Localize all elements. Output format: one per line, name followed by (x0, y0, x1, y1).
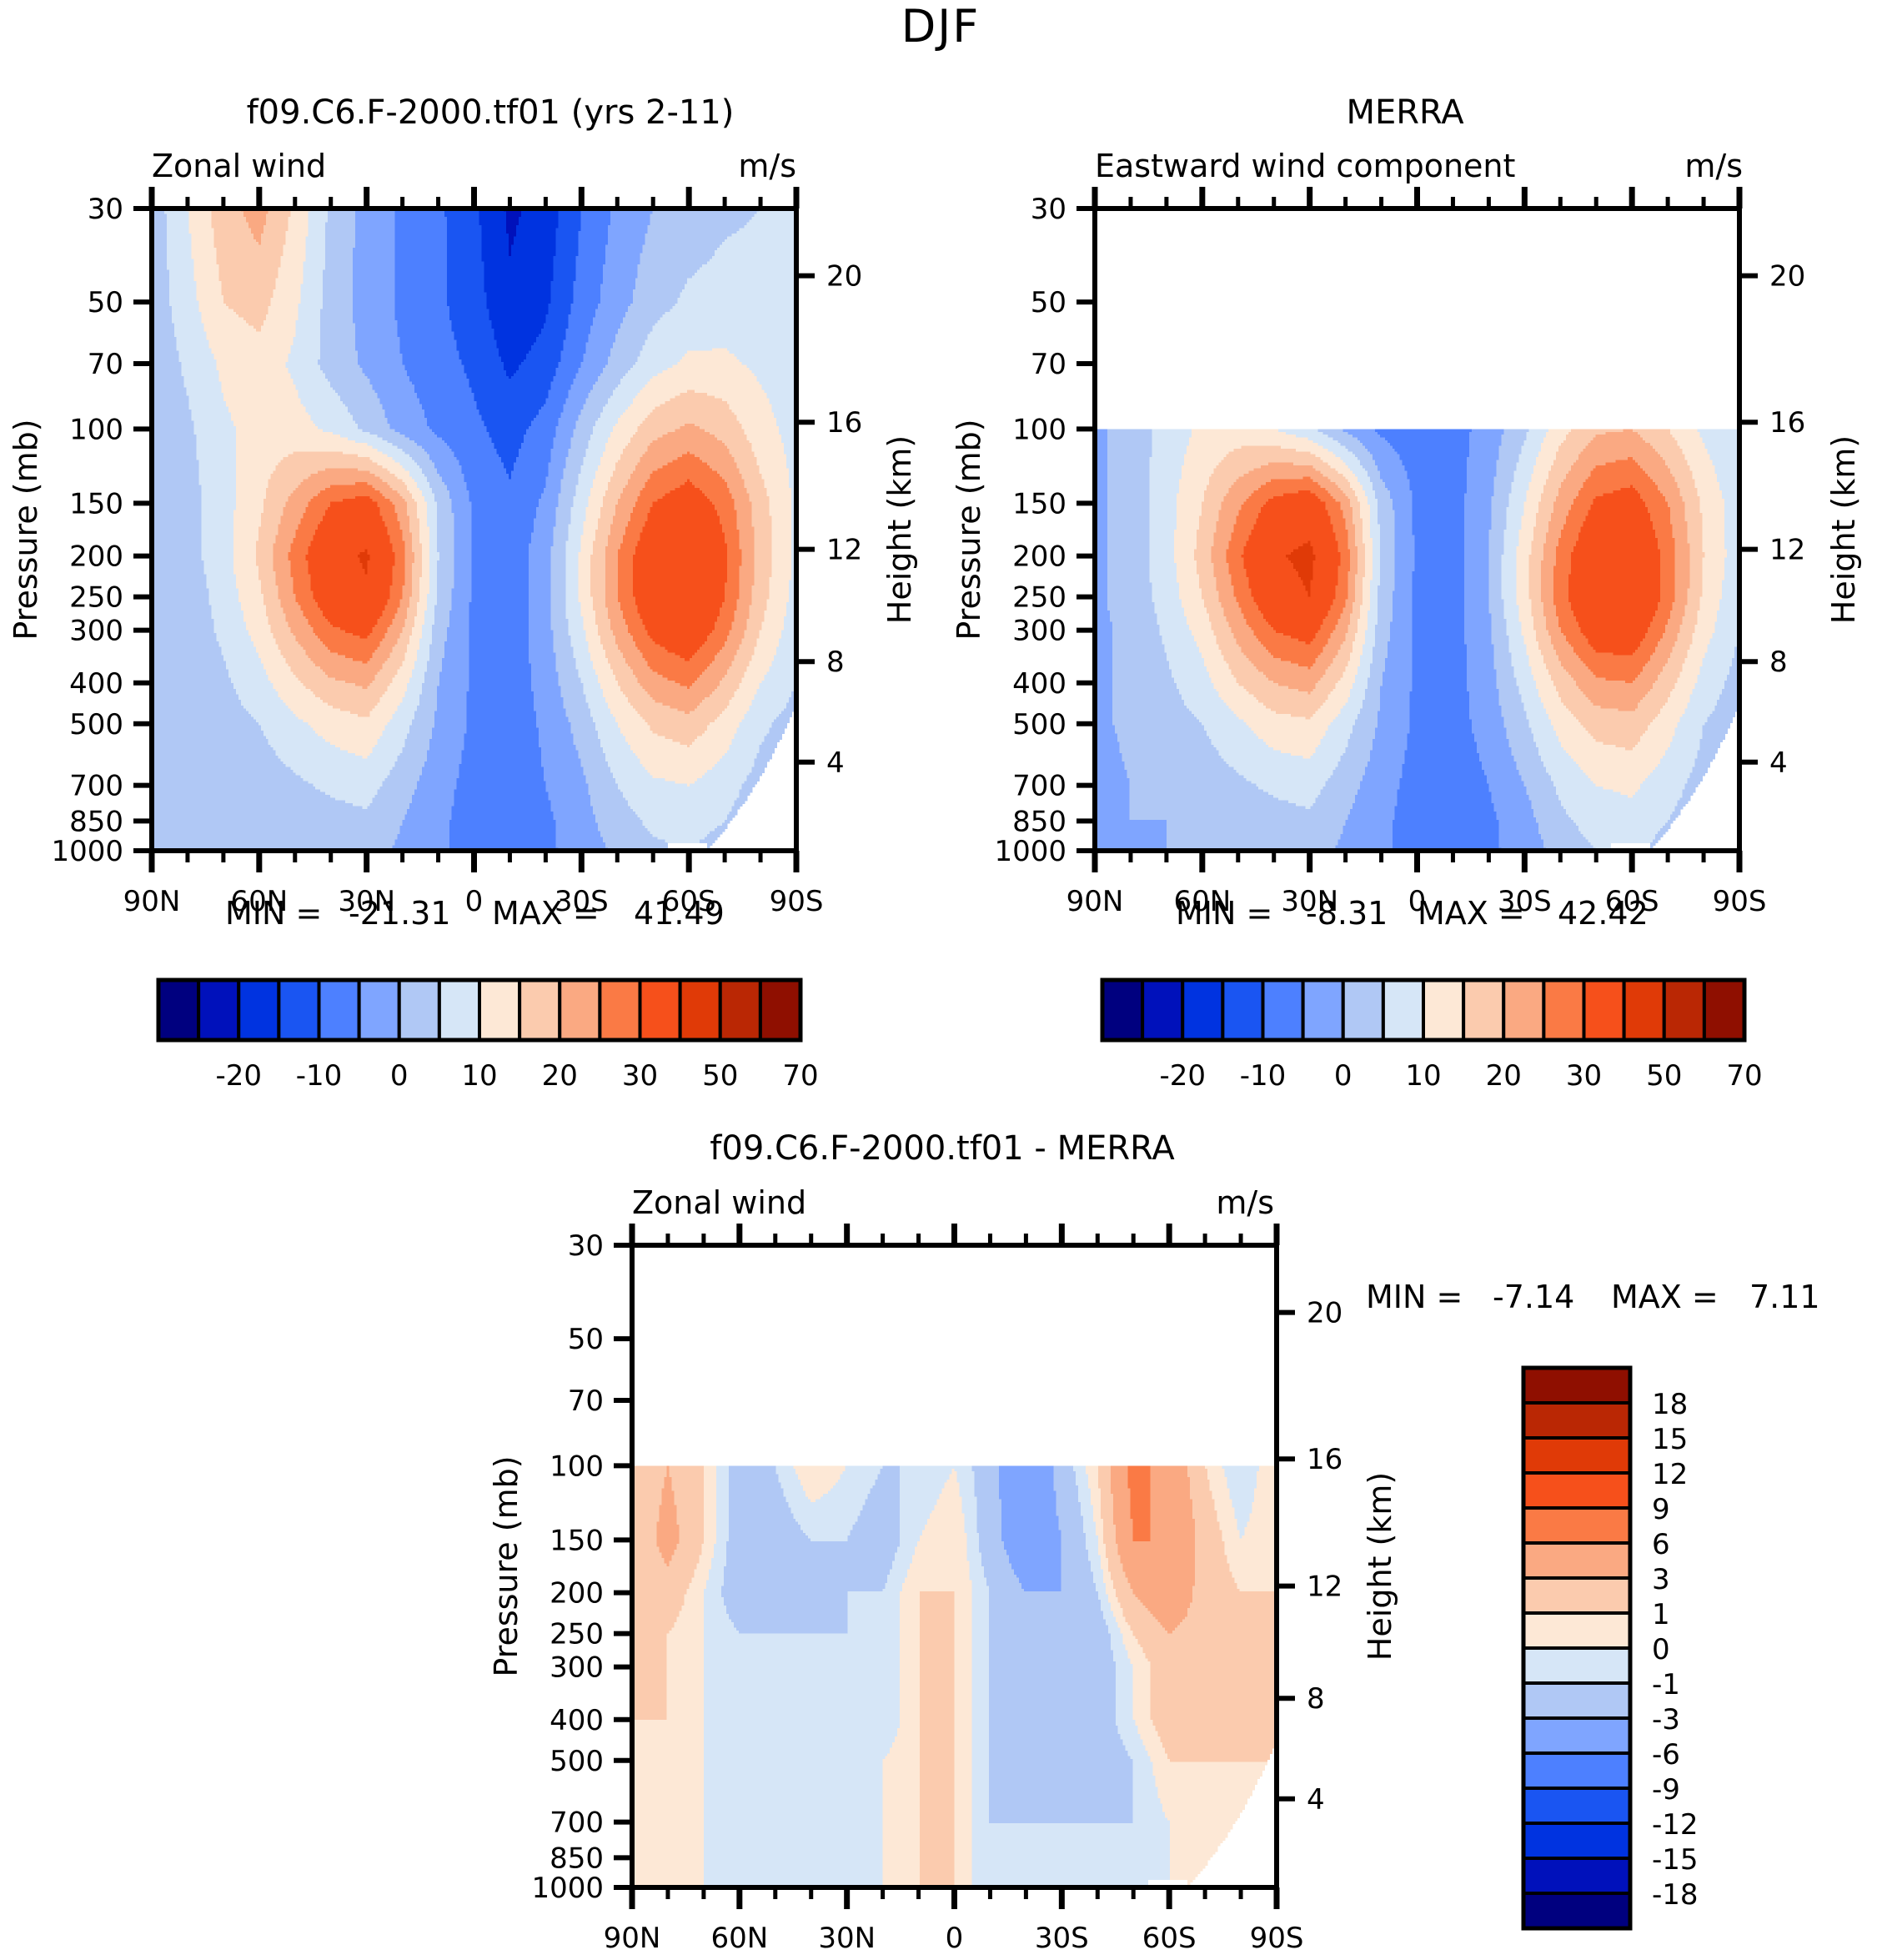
pressure-tick-label: 850 (1012, 805, 1066, 838)
panel-model-units: m/s (738, 148, 796, 184)
pressure-tick-label: 850 (550, 1842, 604, 1875)
pressure-tick-label: 400 (69, 667, 123, 701)
pressure-tick-label: 300 (69, 615, 123, 648)
colorbar-tick-label: 3 (1652, 1563, 1670, 1596)
colorbar-tick-label: -1 (1652, 1668, 1680, 1701)
colorbar-tick-label: 20 (542, 1059, 578, 1093)
pressure-tick-label: 500 (1012, 708, 1066, 741)
colorbar-tick-label: 0 (390, 1059, 409, 1093)
panel-model-ylabel: Pressure (mb) (8, 419, 44, 640)
latitude-tick-label: 60S (1142, 1922, 1197, 1955)
pressure-tick-label: 500 (550, 1745, 604, 1778)
pressure-tick-label: 500 (69, 708, 123, 741)
pressure-tick-label: 50 (568, 1323, 604, 1356)
panel-model-max-value: 41.49 (634, 895, 725, 932)
panel-obs-contour-field (1095, 429, 1740, 851)
colorbar-tick-label: -3 (1652, 1703, 1680, 1736)
pressure-tick-label: 30 (1031, 193, 1066, 226)
latitude-tick-label: 60N (710, 1922, 768, 1955)
panel-model-y2label: Height (km) (881, 435, 918, 624)
pressure-tick-label: 200 (1012, 540, 1066, 574)
colorbar-tick-label: 30 (622, 1059, 658, 1093)
colorbar-tick-label: 10 (1405, 1059, 1441, 1093)
panel-difference-contour-field (632, 1465, 1277, 1887)
panel-difference-ylabel: Pressure (mb) (488, 1455, 524, 1676)
colorbar-tick-label: 70 (1726, 1059, 1762, 1093)
pressure-tick-label: 150 (1012, 487, 1066, 520)
height-tick-label: 8 (1769, 646, 1788, 679)
colorbar-tick-label: 30 (1566, 1059, 1602, 1093)
panel-model-min-value: -21.31 (349, 895, 451, 932)
panel-obs-ylabel: Pressure (mb) (951, 419, 987, 640)
colorbar-tick-label: 18 (1652, 1388, 1688, 1421)
pressure-tick-label: 100 (69, 413, 123, 446)
colorbar-tick-label: 12 (1652, 1458, 1688, 1491)
pressure-tick-label: 700 (1012, 770, 1066, 803)
latitude-tick-label: 30S (1035, 1922, 1089, 1955)
colorbar-tick-label: 10 (461, 1059, 497, 1093)
colorbar-tick-label: -9 (1652, 1773, 1680, 1807)
colorbar-tick-label: 20 (1486, 1059, 1522, 1093)
height-tick-label: 20 (826, 260, 862, 294)
pressure-tick-label: 250 (69, 581, 123, 615)
latitude-tick-label: 90N (1066, 885, 1124, 918)
panel-obs-colorbar[interactable]: -20-1001020305070 (1102, 980, 1763, 1093)
height-tick-label: 16 (1307, 1443, 1342, 1476)
colorbar-tick-label: 0 (1652, 1633, 1670, 1666)
colorbar-tick-label: 6 (1652, 1528, 1670, 1561)
height-tick-label: 12 (826, 534, 862, 567)
panel-model-field-label: Zonal wind (152, 148, 326, 184)
panel-difference-max-label: MAX = (1611, 1279, 1719, 1315)
panel-obs-field-label: Eastward wind component (1095, 148, 1515, 184)
colorbar-tick-label: -6 (1652, 1738, 1680, 1772)
pressure-tick-label: 30 (568, 1229, 604, 1263)
panel-model-min-label: MIN = (225, 895, 322, 932)
pressure-tick-label: 1000 (994, 835, 1066, 868)
panel-obs-units: m/s (1684, 148, 1743, 184)
pressure-tick-label: 100 (550, 1450, 604, 1483)
pressure-tick-label: 300 (1012, 615, 1066, 648)
colorbar-tick-label: 50 (1646, 1059, 1682, 1093)
height-tick-label: 8 (1307, 1682, 1325, 1716)
panel-obs-title: MERRA (1346, 93, 1464, 132)
height-tick-label: 12 (1307, 1571, 1342, 1604)
latitude-tick-label: 90S (1713, 885, 1767, 918)
height-tick-label: 12 (1769, 534, 1805, 567)
pressure-tick-label: 70 (88, 348, 123, 381)
pressure-tick-label: 200 (69, 540, 123, 574)
panel-difference-field-label: Zonal wind (632, 1184, 806, 1221)
latitude-tick-label: 90N (123, 885, 181, 918)
pressure-tick-label: 400 (550, 1704, 604, 1737)
panel-difference-units: m/s (1216, 1184, 1274, 1221)
panel-difference-title: f09.C6.F-2000.tf01 - MERRA (710, 1129, 1175, 1168)
pressure-tick-label: 70 (1031, 348, 1066, 381)
pressure-tick-label: 250 (1012, 581, 1066, 615)
colorbar-tick-label: 1 (1652, 1598, 1670, 1631)
panel-model-title: f09.C6.F-2000.tf01 (yrs 2-11) (247, 93, 735, 132)
pressure-tick-label: 400 (1012, 667, 1066, 701)
height-tick-label: 20 (1769, 260, 1805, 294)
pressure-tick-label: 300 (550, 1651, 604, 1685)
pressure-tick-label: 850 (69, 805, 123, 838)
colorbar-tick-label: -20 (215, 1059, 262, 1093)
height-tick-label: 4 (826, 746, 845, 780)
height-tick-label: 4 (1307, 1783, 1325, 1817)
latitude-tick-label: 90N (604, 1922, 661, 1955)
panel-obs-y2label: Height (km) (1825, 435, 1862, 624)
pressure-tick-label: 150 (550, 1524, 604, 1557)
colorbar-tick-label: 9 (1652, 1493, 1670, 1526)
height-tick-label: 16 (1769, 406, 1805, 440)
colorbar-tick-label: -12 (1652, 1808, 1699, 1842)
pressure-tick-label: 100 (1012, 413, 1066, 446)
pressure-tick-label: 50 (1031, 286, 1066, 319)
latitude-tick-label: 90S (770, 885, 824, 918)
colorbar-tick-label: -10 (1240, 1059, 1287, 1093)
pressure-tick-label: 200 (550, 1577, 604, 1611)
latitude-tick-label: 0 (946, 1922, 964, 1955)
panel-obs-max-value: 42.42 (1558, 895, 1649, 932)
pressure-tick-label: 250 (550, 1618, 604, 1651)
height-tick-label: 20 (1307, 1297, 1342, 1330)
panel-obs-min-value: -8.31 (1306, 895, 1388, 932)
panel-difference-max-value: 7.11 (1749, 1279, 1820, 1315)
colorbar-tick-label: 50 (702, 1059, 738, 1093)
colorbar-tick-label: 0 (1334, 1059, 1353, 1093)
panel-difference-min-label: MIN = (1366, 1279, 1463, 1315)
colorbar-tick-label: -18 (1652, 1878, 1699, 1912)
colorbar-tick-label: -20 (1159, 1059, 1206, 1093)
pressure-tick-label: 700 (550, 1807, 604, 1840)
panel-model-max-label: MAX = (492, 895, 600, 932)
panel-obs-max-label: MAX = (1418, 895, 1525, 932)
pressure-tick-label: 50 (88, 286, 123, 319)
panel-difference-min-value: -7.14 (1493, 1279, 1574, 1315)
pressure-tick-label: 1000 (51, 835, 123, 868)
height-tick-label: 4 (1769, 746, 1788, 780)
pressure-tick-label: 30 (88, 193, 123, 226)
panel-model-colorbar[interactable]: -20-1001020305070 (158, 980, 819, 1093)
pressure-tick-label: 70 (568, 1385, 604, 1418)
latitude-tick-label: 90S (1250, 1922, 1304, 1955)
latitude-tick-label: 30N (818, 1922, 876, 1955)
panel-obs-min-label: MIN = (1176, 895, 1272, 932)
latitude-tick-label: 0 (465, 885, 484, 918)
pressure-tick-label: 150 (69, 487, 123, 520)
panel-model-contour-field (152, 209, 797, 852)
colorbar-tick-label: 70 (782, 1059, 818, 1093)
panel-difference-y2label: Height (km) (1362, 1472, 1398, 1661)
colorbar-tick-label: -15 (1652, 1843, 1699, 1877)
pressure-tick-label: 700 (69, 770, 123, 803)
colorbar-tick-label: -10 (296, 1059, 343, 1093)
height-tick-label: 16 (826, 406, 862, 440)
pressure-tick-label: 1000 (531, 1872, 604, 1905)
main-title: DJF (901, 0, 981, 53)
zonal-wind-figure: DJF f09.C6.F-2000.tf01 (yrs 2-11) Zonal … (0, 0, 1882, 1960)
colorbar-tick-label: 15 (1652, 1423, 1688, 1456)
figure-root: DJF f09.C6.F-2000.tf01 (yrs 2-11) Zonal … (0, 0, 1882, 1960)
height-tick-label: 8 (826, 646, 845, 679)
